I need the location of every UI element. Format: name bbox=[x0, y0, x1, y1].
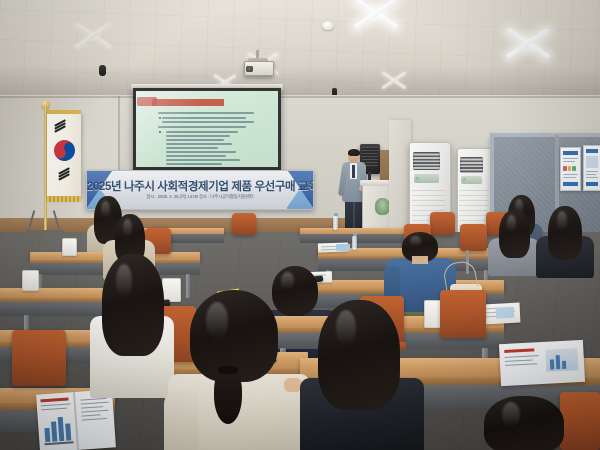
water-bottle-row4 bbox=[352, 236, 357, 250]
cross-light-4 bbox=[500, 32, 556, 54]
partition-poster-2 bbox=[583, 145, 600, 191]
handout-booklet-open bbox=[36, 389, 116, 450]
flag-fringe-bottom bbox=[47, 196, 81, 202]
partition-frame-top bbox=[490, 133, 600, 137]
booklet-line bbox=[41, 403, 71, 406]
poster-footer bbox=[563, 182, 578, 186]
smoke-detector bbox=[322, 21, 334, 30]
partition-poster-1 bbox=[560, 147, 581, 191]
cross-light-1 bbox=[70, 27, 116, 43]
poster-chip bbox=[568, 166, 572, 171]
chair-row4-c bbox=[460, 224, 487, 251]
presenter-hair bbox=[348, 149, 360, 156]
booklet-line bbox=[82, 418, 107, 421]
booklet-line bbox=[81, 398, 107, 401]
booklet-line bbox=[505, 359, 533, 361]
handout-chart-block bbox=[496, 307, 515, 319]
handout-booklet-right bbox=[499, 340, 585, 386]
air-conditioner-2-led bbox=[463, 178, 466, 181]
tissue-box-row3 bbox=[22, 270, 39, 291]
booklet-line bbox=[41, 408, 67, 411]
poster-line bbox=[586, 171, 598, 172]
poster-line bbox=[563, 174, 578, 175]
attendee-front-right bbox=[300, 300, 424, 450]
cross-light-3 bbox=[348, 2, 404, 24]
attendee-hair bbox=[318, 300, 400, 410]
attendee-neck bbox=[412, 256, 428, 264]
chair-row1-left bbox=[12, 330, 66, 386]
attendee-hair-tie bbox=[218, 366, 238, 374]
water-bottle-cap bbox=[353, 233, 357, 236]
projector-lens bbox=[246, 66, 253, 72]
poster-heading bbox=[586, 149, 598, 153]
attendee-front-center bbox=[168, 290, 310, 450]
handout-accent bbox=[336, 244, 350, 251]
booklet-chart-bar bbox=[556, 355, 561, 369]
booklet-chart-bar bbox=[550, 359, 555, 369]
booklet-line bbox=[505, 363, 537, 366]
tissue-box-row4 bbox=[62, 238, 77, 256]
booklet-chart-bar bbox=[51, 421, 57, 441]
poster-heading bbox=[563, 151, 578, 155]
presenter-tie bbox=[352, 165, 355, 178]
cross-light-5 bbox=[378, 74, 410, 86]
chair-row2-b bbox=[440, 290, 486, 338]
water-bottle-cap bbox=[334, 213, 338, 216]
booklet-chart-bar bbox=[562, 361, 566, 369]
poster-line bbox=[563, 158, 578, 159]
seminar-room-photo: 2025년 나주시 사회적경제기업 제품 우선구매 교육 일시 : 2025. … bbox=[0, 0, 600, 450]
ceiling-speaker bbox=[99, 65, 106, 76]
attendee-right-front bbox=[474, 396, 584, 450]
slide-glare bbox=[136, 91, 278, 167]
booklet-line bbox=[81, 402, 109, 405]
poster-line bbox=[586, 174, 596, 175]
presenter-leg-split bbox=[353, 202, 355, 230]
attendee-front-left bbox=[86, 254, 178, 394]
booklet-heading bbox=[40, 397, 68, 401]
lectern-emblem bbox=[375, 198, 390, 215]
booklet-chart-bar bbox=[58, 417, 65, 441]
poster-chip bbox=[563, 166, 567, 171]
wall-seam-2 bbox=[0, 96, 600, 98]
poster-footer bbox=[586, 182, 598, 186]
flag-fringe-top bbox=[47, 110, 81, 114]
poster-chip bbox=[572, 166, 576, 171]
booklet-line bbox=[81, 406, 103, 409]
poster-line bbox=[563, 161, 575, 162]
chair-row5-a bbox=[232, 213, 256, 235]
attendee-shoulder-left bbox=[164, 390, 198, 450]
air-conditioner-1-led bbox=[416, 177, 419, 180]
poster-line bbox=[586, 177, 598, 178]
poster-image-block bbox=[586, 156, 598, 168]
water-bottle-row5 bbox=[333, 216, 338, 230]
attendee-hair bbox=[484, 396, 564, 450]
booklet-line bbox=[505, 355, 539, 358]
attendee-ponytail bbox=[214, 368, 242, 424]
booklet-line bbox=[81, 410, 108, 413]
booklet-heading bbox=[504, 348, 534, 353]
attendee-hair bbox=[102, 254, 164, 356]
booklet-chart-bar bbox=[65, 423, 71, 440]
booklet-spine bbox=[73, 392, 79, 450]
poster-line bbox=[563, 177, 576, 178]
attendee-right-grey bbox=[488, 210, 540, 272]
booklet-chart-bar bbox=[44, 428, 50, 442]
air-conditioner-2-vent bbox=[460, 157, 483, 173]
air-conditioner-1-vent bbox=[413, 152, 440, 170]
attendee-right-black bbox=[536, 206, 594, 276]
booklet-line bbox=[82, 414, 101, 416]
